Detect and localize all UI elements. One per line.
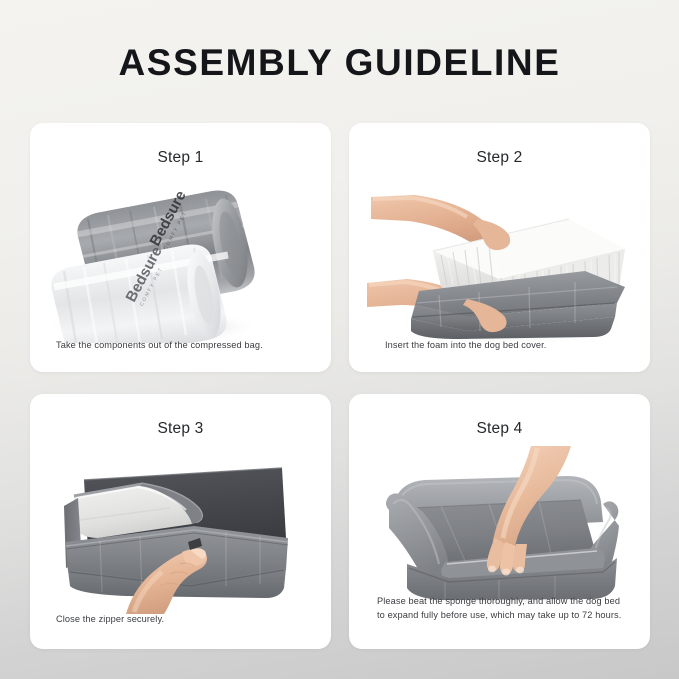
step-card-4[interactable]: Step 4 [349,394,650,649]
step-3-title: Step 3 [30,394,331,438]
step-4-title: Step 4 [349,394,650,438]
step-card-3[interactable]: Step 3 [30,394,331,649]
page-title: ASSEMBLY GUIDELINE [0,0,679,81]
step-1-title: Step 1 [30,123,331,167]
step-card-1[interactable]: Step 1 [30,123,331,372]
step-2-caption: Insert the foam into the dog bed cover. [385,339,630,353]
step-card-2[interactable]: Step 2 [349,123,650,372]
close-zipper-image [30,446,331,614]
step-4-caption: Please beat the sponge thoroughly, and a… [377,595,624,623]
compressed-rolls-image: Bedsure COMFY PET [30,175,331,343]
beat-sponge-image [349,446,650,614]
step-2-title: Step 2 [349,123,650,167]
step-3-caption: Close the zipper securely. [56,613,311,627]
step-1-caption: Take the components out of the compresse… [56,339,311,353]
insert-foam-image [349,175,650,343]
steps-grid: Step 1 [30,123,650,649]
